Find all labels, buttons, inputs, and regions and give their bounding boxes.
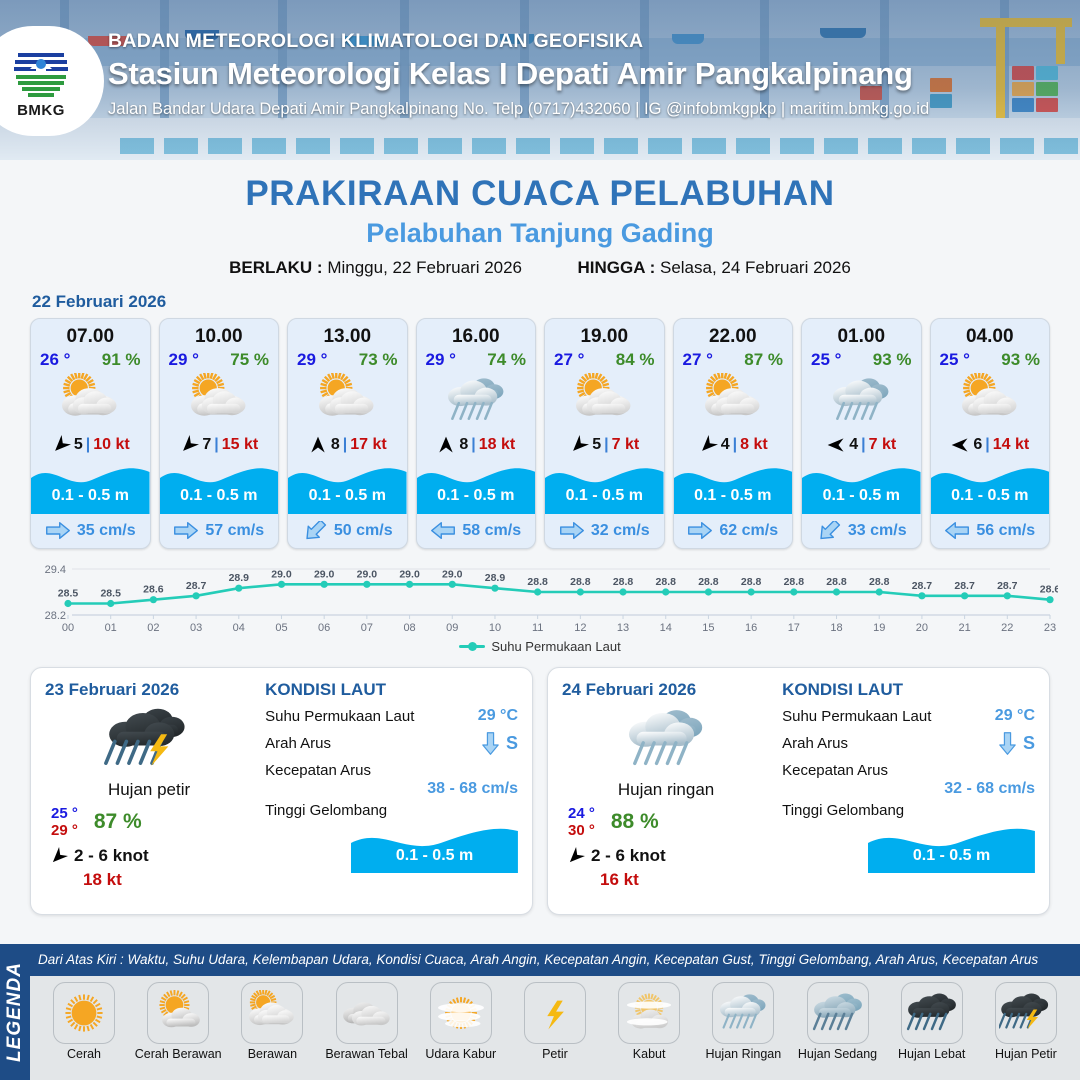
- legend-item-label: Berawan: [248, 1047, 297, 1061]
- legend-item: Kabut: [603, 982, 695, 1061]
- svg-text:09: 09: [446, 622, 458, 634]
- card-current: 58 cm/s: [417, 514, 536, 548]
- current-direction-icon: [816, 521, 842, 540]
- panel-wind: 2 - 6 knot: [74, 846, 149, 866]
- svg-text:28.6: 28.6: [143, 584, 164, 596]
- card-current-speed: 58 cm/s: [462, 522, 521, 540]
- panel-arah-value: S: [506, 733, 518, 754]
- current-direction-icon: [944, 521, 970, 540]
- header-text-block: BADAN METEOROLOGI KLIMATOLOGI DAN GEOFIS…: [108, 30, 929, 119]
- panel-date: 23 Februari 2026: [45, 680, 253, 700]
- berlaku-value: Minggu, 22 Februari 2026: [327, 258, 522, 277]
- svg-text:28.8: 28.8: [613, 576, 634, 588]
- card-current: 33 cm/s: [802, 514, 921, 548]
- card-wave-height: 0.1 - 0.5 m: [417, 487, 536, 505]
- svg-text:22: 22: [1001, 622, 1013, 634]
- panel-sst-value: 29 °C: [478, 707, 518, 725]
- card-gust: 8 kt: [740, 436, 768, 454]
- card-wave-band: 0.1 - 0.5 m: [288, 460, 407, 514]
- card-wave-band: 0.1 - 0.5 m: [931, 460, 1050, 514]
- svg-text:01: 01: [105, 622, 117, 634]
- wind-direction-icon: [436, 435, 456, 455]
- svg-text:02: 02: [147, 622, 159, 634]
- card-wind: 7 | 15 kt: [160, 430, 279, 460]
- card-gust: 14 kt: [993, 436, 1029, 454]
- forecast-card[interactable]: 07.00 26 ° 91 % 5 | 10 kt 0.1 - 0.5 m: [30, 318, 151, 549]
- card-gust: 7 kt: [612, 436, 640, 454]
- card-current-speed: 57 cm/s: [205, 522, 264, 540]
- legend-bar: LEGENDA Dari Atas Kiri : Waktu, Suhu Uda…: [0, 944, 1080, 1080]
- card-humidity: 91 %: [102, 350, 141, 370]
- wind-direction-icon: [569, 435, 589, 455]
- legend-item: Hujan Ringan: [697, 982, 789, 1061]
- card-wave-band: 0.1 - 0.5 m: [31, 460, 150, 514]
- station-name: Stasiun Meteorologi Kelas I Depati Amir …: [108, 56, 929, 92]
- card-temperature: 29 °: [169, 350, 199, 370]
- svg-text:18: 18: [830, 622, 842, 634]
- card-wind-speed: 5: [592, 436, 601, 454]
- card-wind-speed: 8: [459, 436, 468, 454]
- svg-text:16: 16: [745, 622, 757, 634]
- legend-item-label: Hujan Ringan: [705, 1047, 781, 1061]
- berawan-tebal-icon: [336, 982, 398, 1044]
- card-wave-band: 0.1 - 0.5 m: [545, 460, 664, 514]
- separator: |: [214, 436, 218, 454]
- card-time: 01.00: [802, 319, 921, 348]
- svg-text:28.8: 28.8: [527, 576, 548, 588]
- current-direction-icon: [430, 521, 456, 540]
- card-time: 10.00: [160, 319, 279, 348]
- svg-text:15: 15: [702, 622, 714, 634]
- card-wave-height: 0.1 - 0.5 m: [31, 487, 150, 505]
- page-subtitle: Pelabuhan Tanjung Gading: [0, 218, 1080, 249]
- separator: |: [343, 436, 347, 454]
- sst-chart-plot: 29.428.228.50028.50128.60228.70328.90429…: [22, 559, 1058, 637]
- svg-text:20: 20: [916, 622, 928, 634]
- hujan-ringan-icon: [712, 982, 774, 1044]
- page-header: BMKG BADAN METEOROLOGI KLIMATOLOGI DAN G…: [0, 0, 1080, 160]
- panel-gust: 16 kt: [562, 870, 770, 890]
- panel-kec-value: 32 - 68 cm/s: [782, 780, 1035, 798]
- current-direction-icon: [482, 732, 499, 755]
- card-time: 16.00: [417, 319, 536, 348]
- legend-item-label: Cerah Berawan: [135, 1047, 222, 1061]
- card-time: 04.00: [931, 319, 1050, 348]
- svg-text:28.8: 28.8: [741, 576, 762, 588]
- card-temperature: 29 °: [426, 350, 456, 370]
- svg-text:05: 05: [275, 622, 287, 634]
- panel-kec-label: Kecepatan Arus: [782, 762, 888, 779]
- hujan-petir-icon: [45, 702, 253, 778]
- berawan-icon: [160, 372, 279, 430]
- svg-text:28.7: 28.7: [954, 580, 975, 592]
- card-wave-band: 0.1 - 0.5 m: [417, 460, 536, 514]
- legend-item-label: Berawan Tebal: [325, 1047, 407, 1061]
- card-current-speed: 62 cm/s: [719, 522, 778, 540]
- svg-text:19: 19: [873, 622, 885, 634]
- forecast-card[interactable]: 19.00 27 ° 84 % 5 | 7 kt 0.1 - 0.5 m: [544, 318, 665, 549]
- card-current-speed: 50 cm/s: [334, 522, 393, 540]
- card-temperature: 25 °: [940, 350, 970, 370]
- page-title: PRAKIRAAN CUACA PELABUHAN: [0, 174, 1080, 214]
- berlaku-label: BERLAKU :: [229, 258, 323, 277]
- card-temperature: 27 °: [683, 350, 713, 370]
- wind-direction-icon: [308, 435, 328, 455]
- legend-item-label: Hujan Petir: [995, 1047, 1057, 1061]
- chart-legend: Suhu Permukaan Laut: [22, 639, 1058, 654]
- card-wave-height: 0.1 - 0.5 m: [802, 487, 921, 505]
- card-gust: 10 kt: [93, 436, 129, 454]
- card-current: 50 cm/s: [288, 514, 407, 548]
- svg-text:28.8: 28.8: [826, 576, 847, 588]
- svg-text:29.0: 29.0: [314, 568, 335, 580]
- separator: |: [861, 436, 865, 454]
- sst-chart: 29.428.228.50028.50128.60228.70328.90429…: [22, 559, 1058, 659]
- forecast-card[interactable]: 10.00 29 ° 75 % 7 | 15 kt 0.1 - 0.5 m: [159, 318, 280, 549]
- wind-direction-icon: [698, 435, 718, 455]
- hujan-sedang-icon: [807, 982, 869, 1044]
- wind-direction-icon: [51, 435, 71, 455]
- petir-icon: [524, 982, 586, 1044]
- svg-text:29.0: 29.0: [442, 568, 463, 580]
- daily-panel[interactable]: 24 Februari 2026 Hujan ringan 24 ° 30 ° …: [547, 667, 1050, 915]
- legend-item: Udara Kabur: [415, 982, 507, 1061]
- svg-text:12: 12: [574, 622, 586, 634]
- berawan-icon: [931, 372, 1050, 430]
- svg-text:10: 10: [489, 622, 501, 634]
- svg-text:29.0: 29.0: [357, 568, 378, 580]
- bmkg-logo-text: BMKG: [17, 102, 65, 119]
- panel-sea-title: KONDISI LAUT: [265, 680, 518, 700]
- hujan-petir-icon: [995, 982, 1057, 1044]
- cerah-berawan-icon: [147, 982, 209, 1044]
- berawan-icon: [31, 372, 150, 430]
- card-current: 62 cm/s: [674, 514, 793, 548]
- wind-direction-icon: [49, 847, 68, 866]
- card-current: 57 cm/s: [160, 514, 279, 548]
- card-wind: 8 | 18 kt: [417, 430, 536, 460]
- separator: |: [471, 436, 475, 454]
- card-wind: 5 | 7 kt: [545, 430, 664, 460]
- cerah-icon: [53, 982, 115, 1044]
- forecast-card[interactable]: 04.00 25 ° 93 % 6 | 14 kt 0.1 - 0.5 m: [930, 318, 1051, 549]
- panel-wind: 2 - 6 knot: [591, 846, 666, 866]
- forecast-card[interactable]: 22.00 27 ° 87 % 4 | 8 kt 0.1 - 0.5 m: [673, 318, 794, 549]
- legend-item-label: Petir: [542, 1047, 568, 1061]
- card-wind-speed: 8: [331, 436, 340, 454]
- panel-kec-label: Kecepatan Arus: [265, 762, 371, 779]
- card-temperature: 26 °: [40, 350, 70, 370]
- card-humidity: 74 %: [487, 350, 526, 370]
- card-wind-speed: 6: [973, 436, 982, 454]
- card-wind: 4 | 7 kt: [802, 430, 921, 460]
- card-wind: 6 | 14 kt: [931, 430, 1050, 460]
- panel-humidity: 87 %: [94, 810, 142, 834]
- panel-gel-label: Tinggi Gelombang: [265, 802, 387, 819]
- panel-kec-value: 38 - 68 cm/s: [265, 780, 518, 798]
- hingga-label: HINGGA :: [577, 258, 655, 277]
- panel-condition: Hujan petir: [45, 780, 253, 800]
- legend-item: Hujan Petir: [980, 982, 1072, 1061]
- agency-name: BADAN METEOROLOGI KLIMATOLOGI DAN GEOFIS…: [108, 30, 929, 53]
- svg-text:28.8: 28.8: [698, 576, 719, 588]
- svg-text:07: 07: [361, 622, 373, 634]
- panel-gel-label: Tinggi Gelombang: [782, 802, 904, 819]
- svg-text:28.9: 28.9: [485, 572, 506, 584]
- card-wave-height: 0.1 - 0.5 m: [545, 487, 664, 505]
- udara-kabur-icon: [430, 982, 492, 1044]
- wind-direction-icon: [566, 847, 585, 866]
- svg-text:28.7: 28.7: [912, 580, 933, 592]
- berawan-icon: [545, 372, 664, 430]
- legend-item-label: Hujan Sedang: [798, 1047, 877, 1061]
- current-direction-icon: [45, 521, 71, 540]
- card-wind-speed: 4: [849, 436, 858, 454]
- wind-direction-icon: [826, 435, 846, 455]
- legend-items: Cerah Cerah Berawan Berawan: [30, 976, 1080, 1080]
- panel-date: 24 Februari 2026: [562, 680, 770, 700]
- card-wind: 4 | 8 kt: [674, 430, 793, 460]
- card-current: 32 cm/s: [545, 514, 664, 548]
- panel-gust: 18 kt: [45, 870, 253, 890]
- card-humidity: 84 %: [616, 350, 655, 370]
- card-current: 35 cm/s: [31, 514, 150, 548]
- card-temperature: 25 °: [811, 350, 841, 370]
- svg-text:28.8: 28.8: [656, 576, 677, 588]
- svg-text:28.8: 28.8: [869, 576, 890, 588]
- card-temperature: 29 °: [297, 350, 327, 370]
- svg-text:06: 06: [318, 622, 330, 634]
- svg-text:14: 14: [660, 622, 672, 634]
- card-humidity: 73 %: [359, 350, 398, 370]
- card-temperature: 27 °: [554, 350, 584, 370]
- legenda-side-text: LEGENDA: [4, 962, 26, 1062]
- berawan-icon: [241, 982, 303, 1044]
- svg-text:28.5: 28.5: [100, 588, 121, 600]
- kabut-icon: [618, 982, 680, 1044]
- daily-forecast-panels: 23 Februari 2026 Hujan petir 25 ° 29 ° 8…: [0, 659, 1080, 915]
- svg-text:03: 03: [190, 622, 202, 634]
- svg-text:04: 04: [233, 622, 245, 634]
- card-humidity: 93 %: [1001, 350, 1040, 370]
- panel-arah-value: S: [1023, 733, 1035, 754]
- current-direction-icon: [559, 521, 585, 540]
- svg-text:23: 23: [1044, 622, 1056, 634]
- panel-sst-value: 29 °C: [995, 707, 1035, 725]
- svg-text:11: 11: [532, 622, 543, 634]
- separator: |: [733, 436, 737, 454]
- current-direction-icon: [302, 521, 328, 540]
- card-gust: 7 kt: [869, 436, 897, 454]
- legenda-side-label: LEGENDA: [0, 944, 30, 1080]
- panel-temp-min: 24 °: [568, 805, 595, 822]
- separator: |: [985, 436, 989, 454]
- svg-text:28.2: 28.2: [45, 610, 66, 622]
- card-wave-band: 0.1 - 0.5 m: [674, 460, 793, 514]
- legend-item-label: Hujan Lebat: [898, 1047, 965, 1061]
- panel-humidity: 88 %: [611, 810, 659, 834]
- panel-wave-band: 0.1 - 0.5 m: [351, 821, 518, 873]
- legend-label: Suhu Permukaan Laut: [491, 639, 620, 654]
- svg-text:29.0: 29.0: [399, 568, 420, 580]
- wind-direction-icon: [179, 435, 199, 455]
- svg-text:17: 17: [788, 622, 800, 634]
- forecast-card[interactable]: 13.00 29 ° 73 % 8 | 17 kt 0.1 - 0.5 m: [287, 318, 408, 549]
- card-humidity: 75 %: [230, 350, 269, 370]
- separator: |: [86, 436, 90, 454]
- card-wave-band: 0.1 - 0.5 m: [160, 460, 279, 514]
- card-wave-height: 0.1 - 0.5 m: [288, 487, 407, 505]
- card-gust: 18 kt: [479, 436, 515, 454]
- panel-condition: Hujan ringan: [562, 780, 770, 800]
- legend-item-label: Kabut: [633, 1047, 666, 1061]
- current-direction-icon: [173, 521, 199, 540]
- berawan-icon: [288, 372, 407, 430]
- card-wind: 8 | 17 kt: [288, 430, 407, 460]
- legend-item: Hujan Lebat: [886, 982, 978, 1061]
- card-gust: 15 kt: [222, 436, 258, 454]
- hujan-lebat-icon: [901, 982, 963, 1044]
- berawan-icon: [674, 372, 793, 430]
- hujan-ringan-icon: [417, 372, 536, 430]
- legend-item: Berawan: [226, 982, 318, 1061]
- panel-sst-label: Suhu Permukaan Laut: [782, 708, 931, 725]
- hourly-forecast-row: 07.00 26 ° 91 % 5 | 10 kt 0.1 - 0.5 m: [0, 318, 1080, 549]
- svg-text:21: 21: [958, 622, 970, 634]
- wind-direction-icon: [950, 435, 970, 455]
- validity-range: BERLAKU : Minggu, 22 Februari 2026 HINGG…: [0, 258, 1080, 278]
- panel-arah-label: Arah Arus: [265, 735, 331, 752]
- panel-temp-min: 25 °: [51, 805, 78, 822]
- svg-text:08: 08: [403, 622, 415, 634]
- panel-temp-max: 29 °: [51, 822, 78, 839]
- svg-text:28.8: 28.8: [784, 576, 805, 588]
- legend-marker-icon: [459, 645, 485, 648]
- svg-text:29.0: 29.0: [271, 568, 292, 580]
- card-current: 56 cm/s: [931, 514, 1050, 548]
- card-wind-speed: 7: [202, 436, 211, 454]
- title-block: PRAKIRAAN CUACA PELABUHAN Pelabuhan Tanj…: [0, 174, 1080, 278]
- svg-text:28.6: 28.6: [1040, 584, 1058, 596]
- svg-text:00: 00: [62, 622, 74, 634]
- panel-temp-max: 30 °: [568, 822, 595, 839]
- legend-item-label: Udara Kabur: [425, 1047, 496, 1061]
- card-current-speed: 32 cm/s: [591, 522, 650, 540]
- svg-text:29.4: 29.4: [45, 564, 66, 576]
- current-direction-icon: [999, 732, 1016, 755]
- card-wave-height: 0.1 - 0.5 m: [931, 487, 1050, 505]
- card-current-speed: 35 cm/s: [77, 522, 136, 540]
- card-current-speed: 33 cm/s: [848, 522, 907, 540]
- legend-item: Petir: [509, 982, 601, 1061]
- card-time: 19.00: [545, 319, 664, 348]
- forecast-card[interactable]: 01.00 25 ° 93 % 4 | 7 kt 0.1 - 0: [801, 318, 922, 549]
- card-wave-band: 0.1 - 0.5 m: [802, 460, 921, 514]
- card-current-speed: 56 cm/s: [976, 522, 1035, 540]
- card-time: 22.00: [674, 319, 793, 348]
- card-time: 07.00: [31, 319, 150, 348]
- svg-text:28.8: 28.8: [570, 576, 591, 588]
- svg-text:13: 13: [617, 622, 629, 634]
- legend-item: Cerah Berawan: [132, 982, 224, 1061]
- card-wave-height: 0.1 - 0.5 m: [160, 487, 279, 505]
- bmkg-emblem-icon: [10, 43, 72, 101]
- card-wave-height: 0.1 - 0.5 m: [674, 487, 793, 505]
- card-time: 13.00: [288, 319, 407, 348]
- svg-text:28.7: 28.7: [186, 580, 207, 592]
- legend-item-label: Cerah: [67, 1047, 101, 1061]
- separator: |: [604, 436, 608, 454]
- hingga-value: Selasa, 24 Februari 2026: [660, 258, 851, 277]
- forecast-day-label: 22 Februari 2026: [32, 292, 1080, 312]
- panel-gel-value: 0.1 - 0.5 m: [351, 847, 518, 865]
- contact-line: Jalan Bandar Udara Depati Amir Pangkalpi…: [108, 100, 929, 119]
- hujan-ringan-icon: [802, 372, 921, 430]
- card-humidity: 93 %: [873, 350, 912, 370]
- legend-item: Hujan Sedang: [792, 982, 884, 1061]
- panel-sea-title: KONDISI LAUT: [782, 680, 1035, 700]
- card-wind-speed: 5: [74, 436, 83, 454]
- forecast-card[interactable]: 16.00 29 ° 74 % 8 | 18 kt 0.1 -: [416, 318, 537, 549]
- legend-item: Cerah: [38, 982, 130, 1061]
- current-direction-icon: [687, 521, 713, 540]
- svg-text:28.9: 28.9: [229, 572, 250, 584]
- panel-arah-label: Arah Arus: [782, 735, 848, 752]
- card-gust: 17 kt: [350, 436, 386, 454]
- legend-note: Dari Atas Kiri : Waktu, Suhu Udara, Kele…: [38, 952, 1074, 967]
- card-humidity: 87 %: [744, 350, 783, 370]
- svg-text:28.7: 28.7: [997, 580, 1018, 592]
- panel-wave-band: 0.1 - 0.5 m: [868, 821, 1035, 873]
- legend-item: Berawan Tebal: [321, 982, 413, 1061]
- daily-panel[interactable]: 23 Februari 2026 Hujan petir 25 ° 29 ° 8…: [30, 667, 533, 915]
- panel-sst-label: Suhu Permukaan Laut: [265, 708, 414, 725]
- svg-text:28.5: 28.5: [58, 588, 79, 600]
- card-wind: 5 | 10 kt: [31, 430, 150, 460]
- card-wind-speed: 4: [721, 436, 730, 454]
- panel-gel-value: 0.1 - 0.5 m: [868, 847, 1035, 865]
- hujan-ringan-icon: [562, 702, 770, 778]
